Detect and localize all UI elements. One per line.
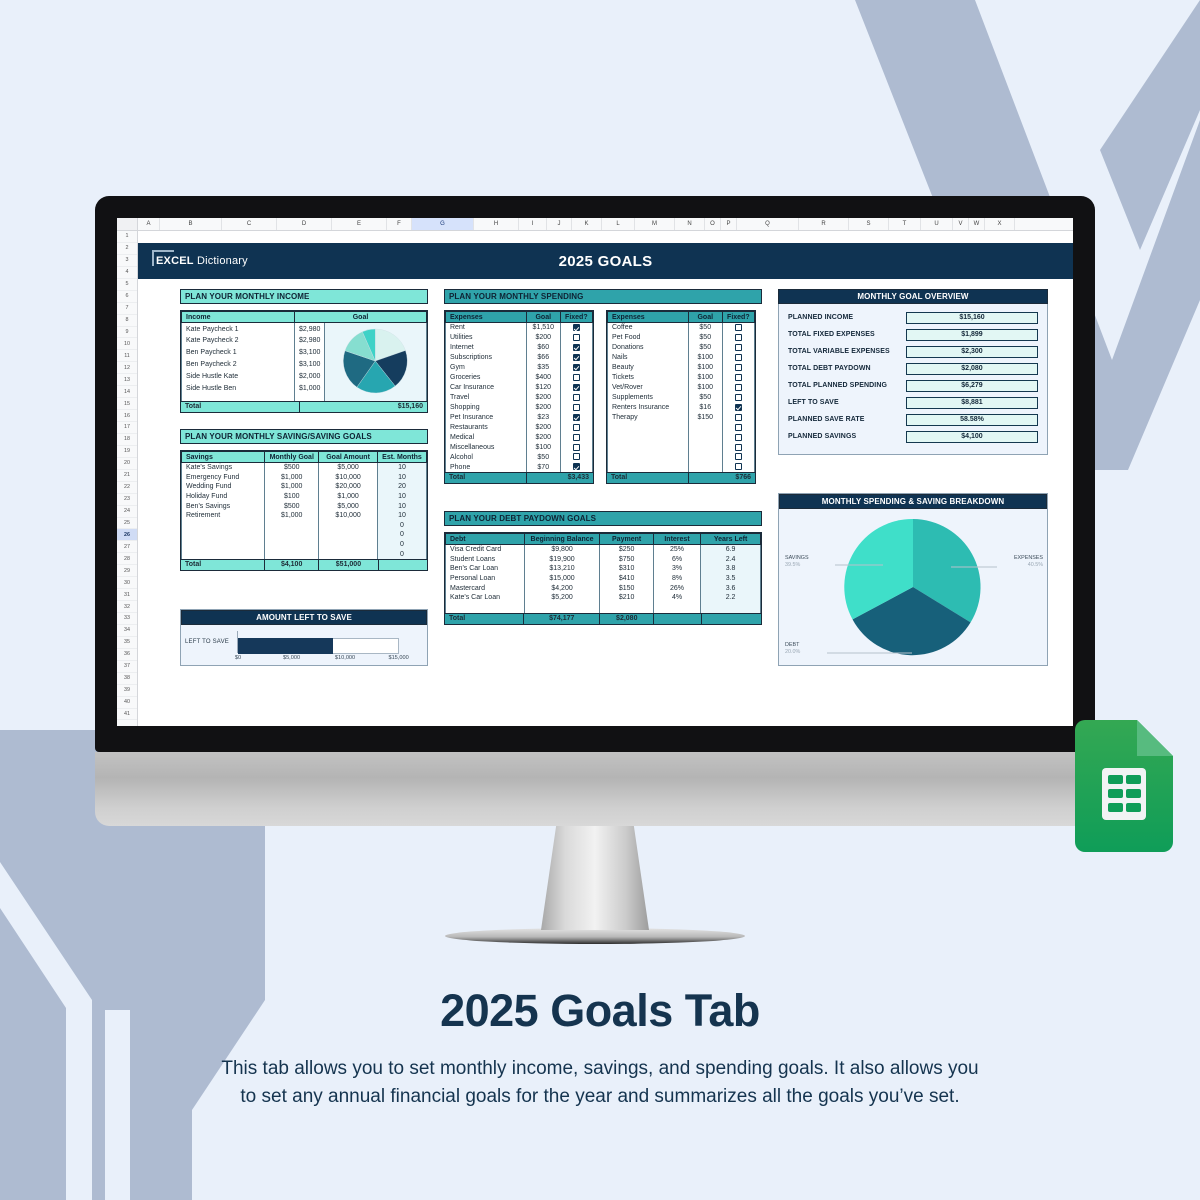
column-header-D[interactable]: D [277,218,332,230]
spend-left-name-1[interactable]: Utilities [446,333,527,343]
income-goal-4[interactable]: $2,000 [295,371,325,383]
table-row[interactable]: Internet$60 [446,343,593,353]
savings-name-1[interactable]: Emergency Fund [182,473,265,483]
row-header-14[interactable]: 14 [117,386,137,398]
spreadsheet-canvas[interactable]: EXCEL Dictionary 2025 GOALS PLAN YOUR MO… [138,231,1073,726]
spend-right-goal-1[interactable]: $50 [688,333,722,343]
savings-months-8[interactable]: 0 [377,540,426,550]
table-row[interactable]: Wedding Fund$1,000$20,00020 [182,482,427,492]
row-header-23[interactable]: 23 [117,494,137,506]
debt-payment-4[interactable]: $150 [600,583,654,593]
income-goal-3[interactable]: $3,100 [295,359,325,371]
debt-table[interactable]: Debt Beginning Balance Payment Interest … [445,533,761,613]
spend-left-name-3[interactable]: Subscriptions [446,353,527,363]
table-row[interactable]: Coffee$50 [608,323,755,333]
spend-right-fixed-3[interactable] [722,353,754,363]
column-header-S[interactable]: S [849,218,889,230]
spend-left-goal-13[interactable]: $50 [526,452,560,462]
spend-left-fixed-8[interactable] [560,403,592,413]
spend-right-name-10[interactable] [608,422,689,432]
savings-months-1[interactable]: 10 [377,473,426,483]
savings-amount-7[interactable] [319,530,378,540]
spend-left-name-11[interactable]: Medical [446,432,527,442]
table-row[interactable]: Student Loans$19,900$7506%2.4 [446,555,761,565]
column-header-C[interactable]: C [222,218,277,230]
spend-left-name-8[interactable]: Shopping [446,403,527,413]
checkbox-icon[interactable] [735,404,742,411]
row-header-13[interactable]: 13 [117,374,137,386]
table-row[interactable]: Donations$50 [608,343,755,353]
spend-left-fixed-9[interactable] [560,412,592,422]
spend-right-goal-2[interactable]: $50 [688,343,722,353]
row-header-39[interactable]: 39 [117,685,137,697]
table-row[interactable]: Ben's Car Loan$13,210$3103%3.8 [446,564,761,574]
spend-right-fixed-4[interactable] [722,363,754,373]
savings-months-9[interactable]: 0 [377,549,426,559]
checkbox-icon[interactable] [573,344,580,351]
savings-name-5[interactable]: Retirement [182,511,265,521]
spend-left-fixed-4[interactable] [560,363,592,373]
debt-balance-0[interactable]: $9,800 [524,545,600,555]
checkbox-icon[interactable] [735,414,742,421]
column-header-K[interactable]: K [572,218,602,230]
spend-left-fixed-6[interactable] [560,383,592,393]
debt-interest-0[interactable]: 25% [653,545,700,555]
column-header-G[interactable]: G [412,218,474,230]
checkbox-icon[interactable] [573,364,580,371]
table-row[interactable]: Subscriptions$66 [446,353,593,363]
row-header-4[interactable]: 4 [117,267,137,279]
spend-left-goal-8[interactable]: $200 [526,403,560,413]
overview-value-2[interactable]: $2,300 [906,346,1038,358]
table-row[interactable]: Therapy$150 [608,412,755,422]
spend-right-fixed-9[interactable] [722,412,754,422]
spend-right-fixed-0[interactable] [722,323,754,333]
savings-monthly-6[interactable] [265,521,319,531]
table-row[interactable]: Travel$200 [446,393,593,403]
row-header-9[interactable]: 9 [117,327,137,339]
column-header-Q[interactable]: Q [737,218,799,230]
spend-right-fixed-8[interactable] [722,403,754,413]
column-header-T[interactable]: T [889,218,921,230]
table-row[interactable]: Retirement$1,000$10,00010 [182,511,427,521]
checkbox-icon[interactable] [735,384,742,391]
spend-left-goal-5[interactable]: $400 [526,373,560,383]
row-header-27[interactable]: 27 [117,541,137,553]
column-header-P[interactable]: P [721,218,737,230]
savings-name-0[interactable]: Kate's Savings [182,463,265,473]
spending-table-right[interactable]: Expenses Goal Fixed? Coffee$50Pet Food$5… [607,311,755,472]
debt-interest-2[interactable]: 3% [653,564,700,574]
income-name-4[interactable]: Side Hustle Kate [182,371,295,383]
spend-left-goal-14[interactable]: $70 [526,462,560,472]
savings-name-2[interactable]: Wedding Fund [182,482,265,492]
row-header-22[interactable]: 22 [117,482,137,494]
income-goal-0[interactable]: $2,980 [295,323,325,336]
spend-left-goal-12[interactable]: $100 [526,442,560,452]
debt-name-4[interactable]: Mastercard [446,583,525,593]
spend-left-goal-7[interactable]: $200 [526,393,560,403]
row-header-36[interactable]: 36 [117,649,137,661]
table-row[interactable]: Restaurants$200 [446,422,593,432]
table-row[interactable]: Nails$100 [608,353,755,363]
savings-months-7[interactable]: 0 [377,530,426,540]
table-row[interactable]: 0 [182,549,427,559]
row-header-28[interactable]: 28 [117,553,137,565]
column-header-E[interactable]: E [332,218,387,230]
spend-left-fixed-14[interactable] [560,462,592,472]
spend-left-name-5[interactable]: Groceries [446,373,527,383]
spend-left-fixed-2[interactable] [560,343,592,353]
spend-left-name-7[interactable]: Travel [446,393,527,403]
row-header-5[interactable]: 5 [117,279,137,291]
table-row[interactable] [608,442,755,452]
income-goal-2[interactable]: $3,100 [295,347,325,359]
debt-name-5[interactable]: Kate's Car Loan [446,593,525,603]
table-row[interactable]: Kate's Car Loan$5,200$2104%2.2 [446,593,761,603]
row-header-1[interactable]: 1 [117,231,137,243]
income-table[interactable]: Income Goal Kate Paycheck 1$2,980Kate Pa… [181,311,427,401]
spend-right-goal-6[interactable]: $100 [688,383,722,393]
spend-right-goal-8[interactable]: $16 [688,403,722,413]
row-header-8[interactable]: 8 [117,315,137,327]
spend-right-goal-7[interactable]: $50 [688,393,722,403]
table-row[interactable]: Kate's Savings$500$5,00010 [182,463,427,473]
savings-monthly-7[interactable] [265,530,319,540]
row-header-19[interactable]: 19 [117,446,137,458]
spend-left-name-10[interactable]: Restaurants [446,422,527,432]
spend-left-name-4[interactable]: Gym [446,363,527,373]
debt-interest-1[interactable]: 6% [653,555,700,565]
spend-left-fixed-5[interactable] [560,373,592,383]
spend-left-name-0[interactable]: Rent [446,323,527,333]
savings-monthly-4[interactable]: $500 [265,501,319,511]
table-row[interactable]: Beauty$100 [608,363,755,373]
spend-right-fixed-7[interactable] [722,393,754,403]
checkbox-icon[interactable] [573,334,580,341]
checkbox-icon[interactable] [735,324,742,331]
debt-payment-5[interactable]: $210 [600,593,654,603]
row-header-11[interactable]: 11 [117,350,137,362]
spend-right-name-5[interactable]: Tickets [608,373,689,383]
savings-name-9[interactable] [182,549,265,559]
spend-right-goal-11[interactable] [688,432,722,442]
spend-right-name-0[interactable]: Coffee [608,323,689,333]
savings-name-3[interactable]: Holiday Fund [182,492,265,502]
savings-monthly-2[interactable]: $1,000 [265,482,319,492]
savings-months-4[interactable]: 10 [377,501,426,511]
column-header-M[interactable]: M [635,218,675,230]
row-header-20[interactable]: 20 [117,458,137,470]
spend-left-name-9[interactable]: Pet Insurance [446,412,527,422]
income-name-1[interactable]: Kate Paycheck 2 [182,335,295,347]
spend-right-name-4[interactable]: Beauty [608,363,689,373]
column-header-X[interactable]: X [985,218,1015,230]
savings-amount-6[interactable] [319,521,378,531]
spend-right-name-8[interactable]: Renters Insurance [608,403,689,413]
spend-left-name-12[interactable]: Miscellaneous [446,442,527,452]
debt-interest-3[interactable]: 8% [653,574,700,584]
spend-right-goal-5[interactable]: $100 [688,373,722,383]
table-row[interactable]: Medical$200 [446,432,593,442]
spend-right-name-1[interactable]: Pet Food [608,333,689,343]
table-row[interactable]: Visa Credit Card$9,800$25025%6.9 [446,545,761,555]
table-row[interactable]: Tickets$100 [608,373,755,383]
spend-left-fixed-10[interactable] [560,422,592,432]
savings-amount-8[interactable] [319,540,378,550]
debt-years-2[interactable]: 3.8 [701,564,761,574]
table-row[interactable]: Supplements$50 [608,393,755,403]
savings-name-6[interactable] [182,521,265,531]
table-row[interactable]: Rent$1,510 [446,323,593,333]
table-row[interactable]: Utilities$200 [446,333,593,343]
income-name-5[interactable]: Side Hustle Ben [182,383,295,395]
spend-right-name-9[interactable]: Therapy [608,412,689,422]
spend-left-goal-10[interactable]: $200 [526,422,560,432]
column-header-U[interactable]: U [921,218,953,230]
spend-left-fixed-3[interactable] [560,353,592,363]
row-header-6[interactable]: 6 [117,291,137,303]
checkbox-icon[interactable] [735,453,742,460]
row-header-31[interactable]: 31 [117,589,137,601]
savings-amount-1[interactable]: $10,000 [319,473,378,483]
checkbox-icon[interactable] [573,424,580,431]
spend-right-fixed-11[interactable] [722,432,754,442]
spend-left-name-2[interactable]: Internet [446,343,527,353]
row-header-12[interactable]: 12 [117,362,137,374]
savings-amount-5[interactable]: $10,000 [319,511,378,521]
column-header-B[interactable]: B [160,218,222,230]
savings-amount-4[interactable]: $5,000 [319,501,378,511]
spend-left-name-6[interactable]: Car Insurance [446,383,527,393]
overview-value-1[interactable]: $1,899 [906,329,1038,341]
savings-name-4[interactable]: Ben's Savings [182,501,265,511]
debt-payment-2[interactable]: $310 [600,564,654,574]
spend-right-name-2[interactable]: Donations [608,343,689,353]
savings-amount-0[interactable]: $5,000 [319,463,378,473]
table-row[interactable]: Car Insurance$120 [446,383,593,393]
checkbox-icon[interactable] [573,404,580,411]
overview-value-7[interactable]: $4,100 [906,431,1038,443]
checkbox-icon[interactable] [573,324,580,331]
column-header-H[interactable]: H [474,218,519,230]
savings-monthly-9[interactable] [265,549,319,559]
debt-years-0[interactable]: 6.9 [701,545,761,555]
debt-years-4[interactable]: 3.6 [701,583,761,593]
spend-right-name-11[interactable] [608,432,689,442]
spend-right-name-14[interactable] [608,462,689,472]
spend-left-goal-4[interactable]: $35 [526,363,560,373]
spreadsheet-column-headers[interactable]: ABCDEFGHIJKLMNOPQRSTUVWX [117,218,1073,231]
row-header-21[interactable]: 21 [117,470,137,482]
spreadsheet-row-headers[interactable]: 1234567891011121314151617181920212223242… [117,231,138,726]
spend-right-fixed-5[interactable] [722,373,754,383]
overview-value-0[interactable]: $15,160 [906,312,1038,324]
checkbox-icon[interactable] [573,374,580,381]
spend-right-fixed-10[interactable] [722,422,754,432]
column-header-R[interactable]: R [799,218,849,230]
savings-monthly-1[interactable]: $1,000 [265,473,319,483]
savings-amount-9[interactable] [319,549,378,559]
spend-right-fixed-14[interactable] [722,462,754,472]
debt-name-2[interactable]: Ben's Car Loan [446,564,525,574]
savings-monthly-8[interactable] [265,540,319,550]
debt-balance-4[interactable]: $4,200 [524,583,600,593]
checkbox-icon[interactable] [573,444,580,451]
row-header-29[interactable]: 29 [117,565,137,577]
debt-payment-1[interactable]: $750 [600,555,654,565]
table-row[interactable]: 0 [182,521,427,531]
spend-left-fixed-13[interactable] [560,452,592,462]
column-header-W[interactable]: W [969,218,985,230]
spend-right-name-3[interactable]: Nails [608,353,689,363]
checkbox-icon[interactable] [735,344,742,351]
spend-left-name-14[interactable]: Phone [446,462,527,472]
checkbox-icon[interactable] [735,394,742,401]
column-header-F[interactable]: F [387,218,412,230]
income-goal-5[interactable]: $1,000 [295,383,325,395]
debt-interest-4[interactable]: 26% [653,583,700,593]
checkbox-icon[interactable] [573,414,580,421]
spend-right-fixed-2[interactable] [722,343,754,353]
row-header-26[interactable]: 26 [117,529,137,541]
savings-months-6[interactable]: 0 [377,521,426,531]
spend-right-fixed-13[interactable] [722,452,754,462]
spend-left-fixed-12[interactable] [560,442,592,452]
table-row[interactable]: Emergency Fund$1,000$10,00010 [182,473,427,483]
table-row[interactable]: Mastercard$4,200$15026%3.6 [446,583,761,593]
spend-right-goal-14[interactable] [688,462,722,472]
row-header-16[interactable]: 16 [117,410,137,422]
row-header-30[interactable]: 30 [117,577,137,589]
table-row[interactable]: Holiday Fund$100$1,00010 [182,492,427,502]
savings-months-0[interactable]: 10 [377,463,426,473]
debt-balance-1[interactable]: $19,900 [524,555,600,565]
row-header-40[interactable]: 40 [117,697,137,709]
table-row[interactable] [608,422,755,432]
column-header-I[interactable]: I [519,218,547,230]
income-goal-1[interactable]: $2,980 [295,335,325,347]
row-header-37[interactable]: 37 [117,661,137,673]
checkbox-icon[interactable] [735,364,742,371]
row-header-7[interactable]: 7 [117,303,137,315]
spend-right-goal-3[interactable]: $100 [688,353,722,363]
spend-left-goal-3[interactable]: $66 [526,353,560,363]
overview-value-4[interactable]: $6,279 [906,380,1038,392]
debt-balance-2[interactable]: $13,210 [524,564,600,574]
table-row[interactable]: Personal Loan$15,000$4108%3.5 [446,574,761,584]
overview-value-3[interactable]: $2,080 [906,363,1038,375]
savings-months-3[interactable]: 10 [377,492,426,502]
checkbox-icon[interactable] [735,334,742,341]
table-row[interactable] [608,452,755,462]
spend-left-fixed-7[interactable] [560,393,592,403]
table-row[interactable]: Gym$35 [446,363,593,373]
row-header-3[interactable]: 3 [117,255,137,267]
spend-left-goal-2[interactable]: $60 [526,343,560,353]
checkbox-icon[interactable] [735,434,742,441]
row-header-33[interactable]: 33 [117,613,137,625]
row-header-35[interactable]: 35 [117,637,137,649]
spend-right-name-7[interactable]: Supplements [608,393,689,403]
spend-right-goal-4[interactable]: $100 [688,363,722,373]
spend-right-fixed-12[interactable] [722,442,754,452]
table-row[interactable]: Shopping$200 [446,403,593,413]
debt-payment-3[interactable]: $410 [600,574,654,584]
savings-monthly-0[interactable]: $500 [265,463,319,473]
row-header-41[interactable]: 41 [117,709,137,721]
column-header-O[interactable]: O [705,218,721,230]
debt-years-3[interactable]: 3.5 [701,574,761,584]
debt-interest-5[interactable]: 4% [653,593,700,603]
table-row[interactable]: Groceries$400 [446,373,593,383]
overview-value-6[interactable]: 58.58% [906,414,1038,426]
row-header-38[interactable]: 38 [117,673,137,685]
column-header-V[interactable]: V [953,218,969,230]
table-row[interactable]: Miscellaneous$100 [446,442,593,452]
row-header-15[interactable]: 15 [117,398,137,410]
checkbox-icon[interactable] [735,424,742,431]
table-row[interactable]: 0 [182,540,427,550]
checkbox-icon[interactable] [735,354,742,361]
spend-left-goal-1[interactable]: $200 [526,333,560,343]
spend-left-fixed-0[interactable] [560,323,592,333]
checkbox-icon[interactable] [573,463,580,470]
row-header-32[interactable]: 32 [117,601,137,613]
savings-amount-2[interactable]: $20,000 [319,482,378,492]
checkbox-icon[interactable] [735,374,742,381]
spend-left-goal-6[interactable]: $120 [526,383,560,393]
savings-amount-3[interactable]: $1,000 [319,492,378,502]
spend-left-goal-9[interactable]: $23 [526,412,560,422]
income-name-2[interactable]: Ben Paycheck 1 [182,347,295,359]
checkbox-icon[interactable] [573,354,580,361]
row-header-24[interactable]: 24 [117,506,137,518]
savings-name-8[interactable] [182,540,265,550]
spend-right-name-12[interactable] [608,442,689,452]
checkbox-icon[interactable] [735,444,742,451]
debt-balance-5[interactable]: $5,200 [524,593,600,603]
column-header-N[interactable]: N [675,218,705,230]
column-header-J[interactable]: J [547,218,572,230]
spend-right-fixed-6[interactable] [722,383,754,393]
debt-years-1[interactable]: 2.4 [701,555,761,565]
row-header-17[interactable]: 17 [117,422,137,434]
overview-value-5[interactable]: $8,881 [906,397,1038,409]
table-row[interactable]: 0 [182,530,427,540]
checkbox-icon[interactable] [573,434,580,441]
column-header-L[interactable]: L [602,218,635,230]
spend-left-fixed-11[interactable] [560,432,592,442]
debt-name-0[interactable]: Visa Credit Card [446,545,525,555]
spend-right-name-13[interactable] [608,452,689,462]
select-all-corner[interactable] [117,218,138,230]
column-header-A[interactable]: A [138,218,160,230]
debt-payment-0[interactable]: $250 [600,545,654,555]
row-header-18[interactable]: 18 [117,434,137,446]
table-row[interactable] [608,432,755,442]
table-row[interactable]: Phone$70 [446,462,593,472]
row-header-10[interactable]: 10 [117,338,137,350]
checkbox-icon[interactable] [573,384,580,391]
table-row[interactable]: Vet/Rover$100 [608,383,755,393]
spend-left-fixed-1[interactable] [560,333,592,343]
debt-years-5[interactable]: 2.2 [701,593,761,603]
spend-right-goal-9[interactable]: $150 [688,412,722,422]
row-header-25[interactable]: 25 [117,518,137,530]
debt-balance-3[interactable]: $15,000 [524,574,600,584]
savings-table[interactable]: Savings Monthly Goal Goal Amount Est. Mo… [181,451,427,559]
